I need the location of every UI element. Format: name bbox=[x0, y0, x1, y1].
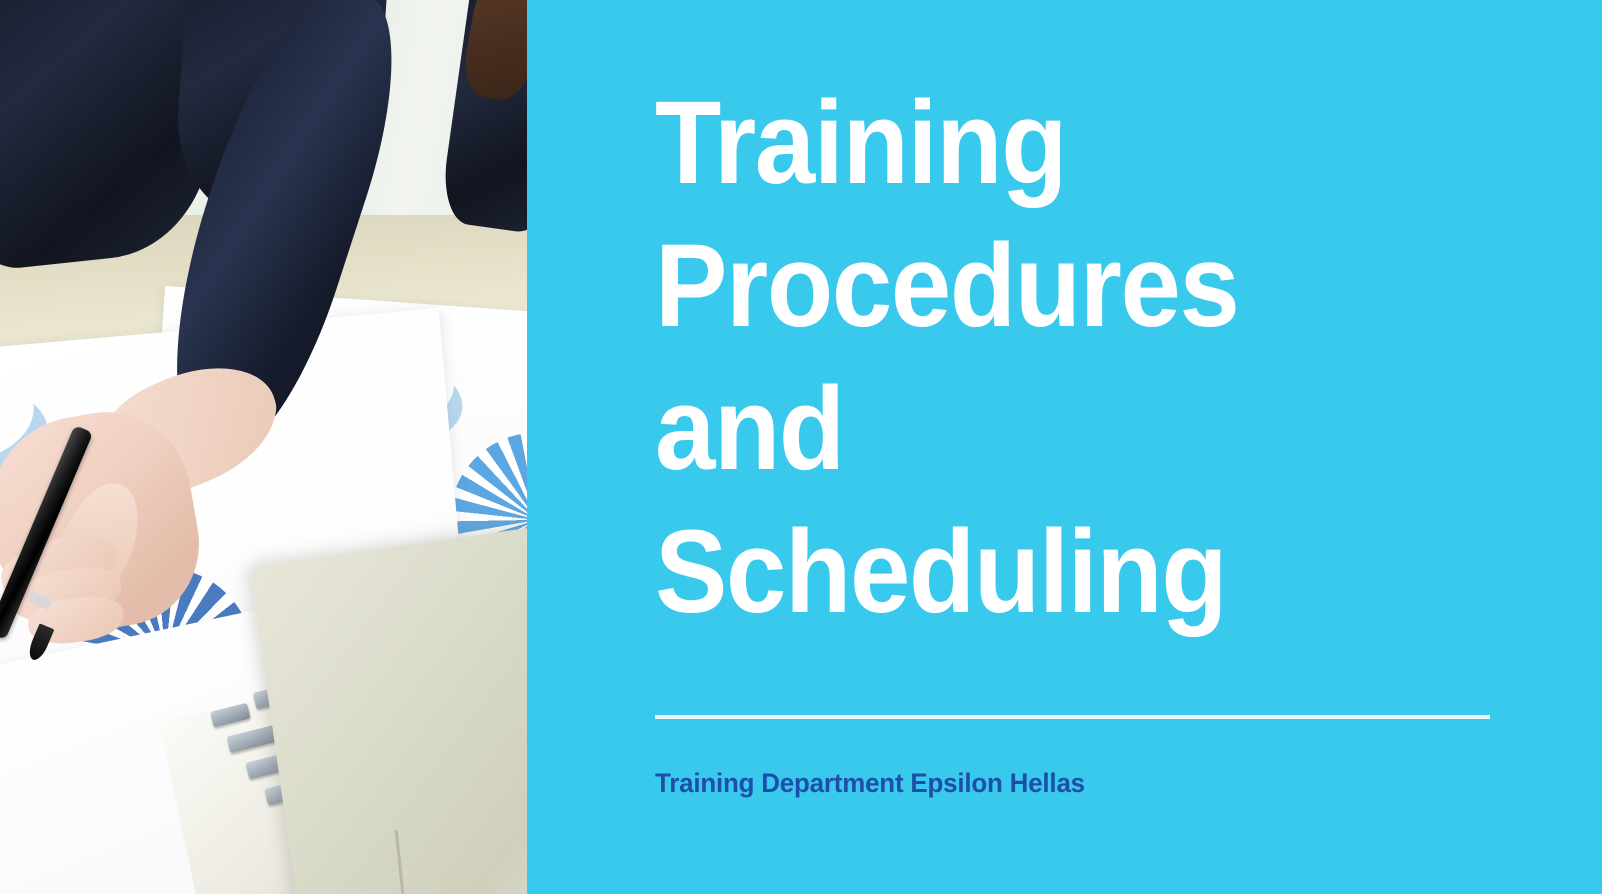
cover-photo bbox=[0, 0, 527, 894]
title-line-2: Procedures bbox=[655, 215, 1465, 358]
title-panel: Training Procedures and Scheduling Train… bbox=[527, 0, 1602, 894]
photo-laptop-lid bbox=[250, 517, 527, 894]
subtitle: Training Department Epsilon Hellas bbox=[655, 768, 1085, 799]
presentation-slide: Training Procedures and Scheduling Train… bbox=[0, 0, 1602, 894]
title-divider bbox=[655, 715, 1490, 719]
title-line-3: and bbox=[655, 358, 1465, 501]
title-line-4: Scheduling bbox=[655, 501, 1465, 644]
title-line-1: Training bbox=[655, 72, 1465, 215]
page-title: Training Procedures and Scheduling bbox=[655, 72, 1535, 644]
